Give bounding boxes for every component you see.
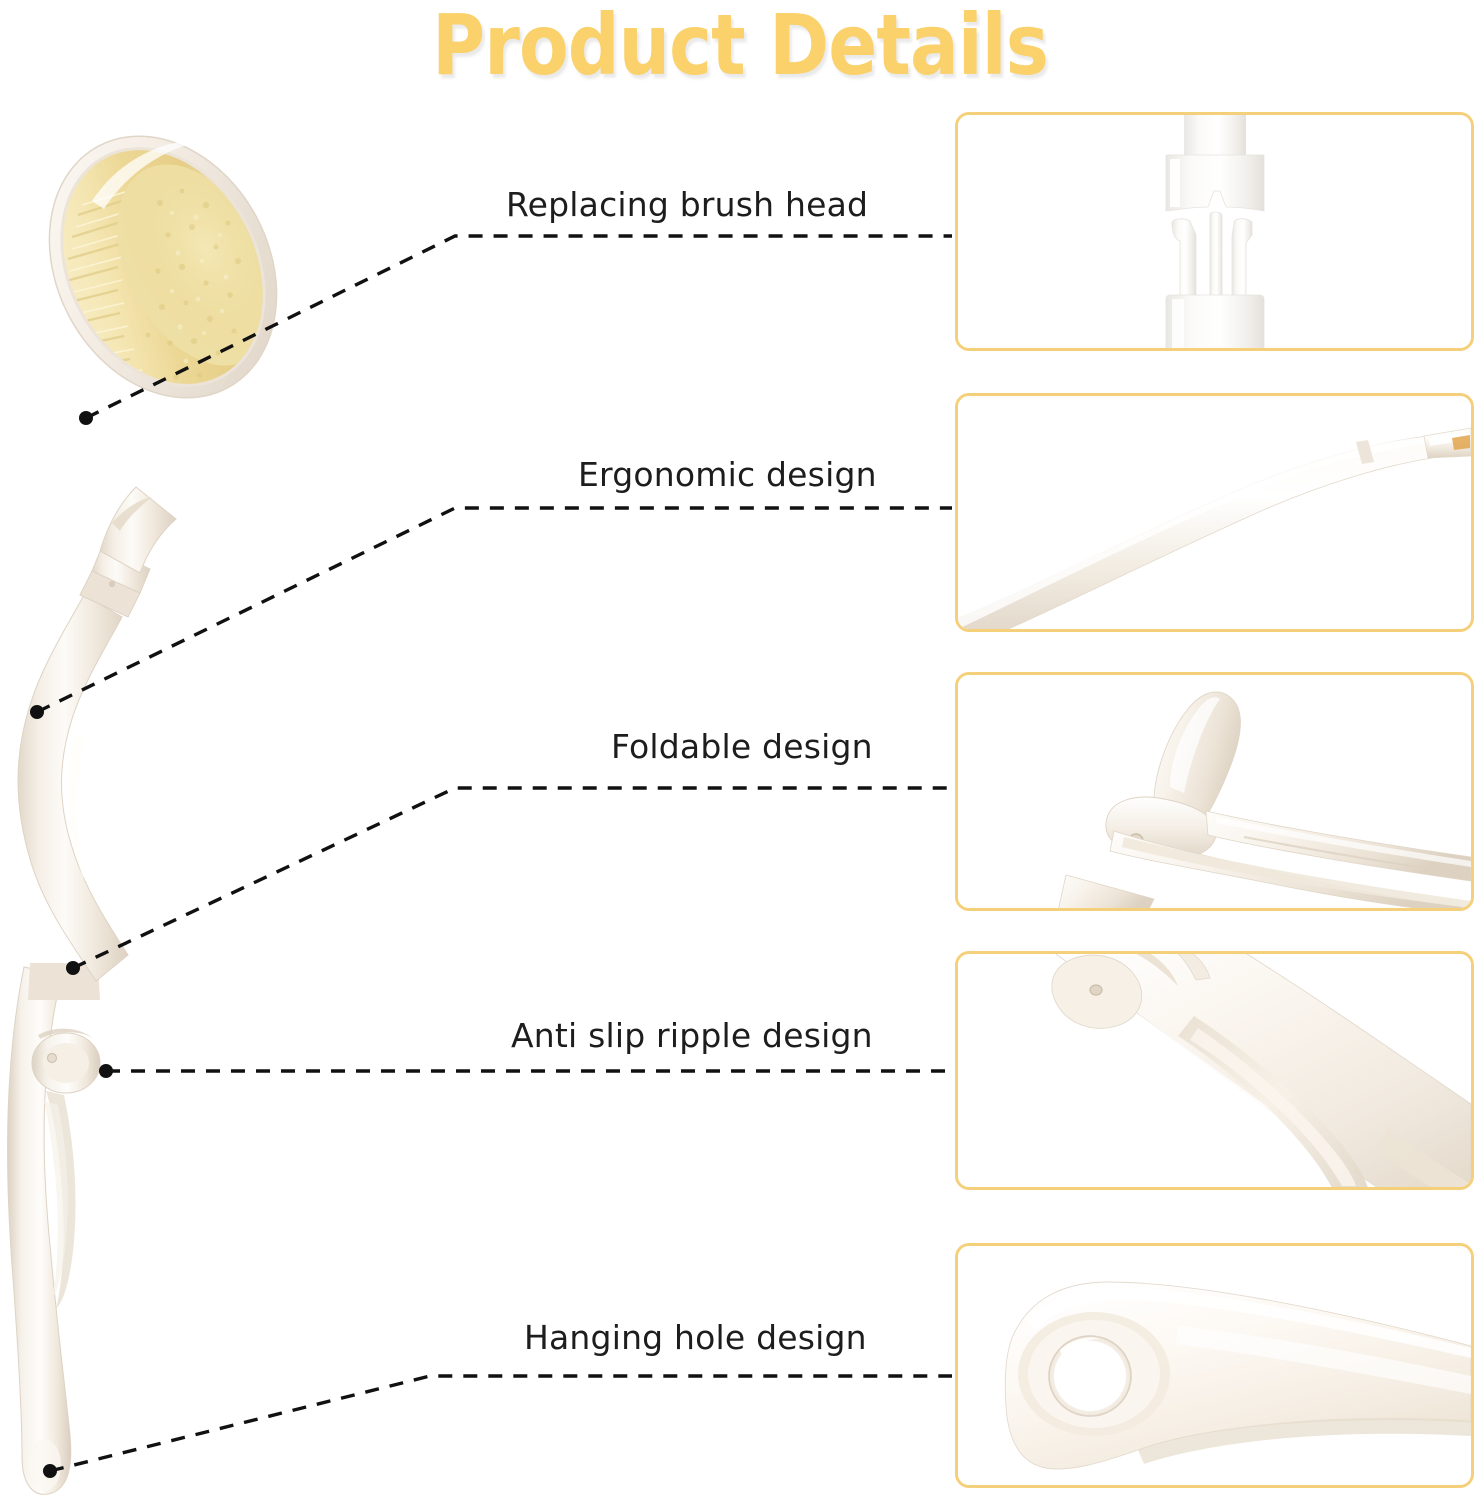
panel-image-replacing-brush-head	[958, 115, 1471, 348]
panel-image-ergonomic-design	[958, 396, 1471, 629]
leader-ergonomic-design	[37, 508, 952, 712]
panel-anti-slip-ripple-design	[955, 951, 1474, 1190]
panel-image-foldable-design	[958, 675, 1471, 908]
panel-hanging-hole-design	[955, 1243, 1474, 1488]
callout-label-hanging-hole-design: Hanging hole design	[524, 1318, 867, 1357]
leader-hanging-hole-design	[50, 1376, 952, 1471]
callout-label-ergonomic-design: Ergonomic design	[578, 455, 877, 494]
panel-image-hanging-hole-design	[958, 1246, 1471, 1485]
callout-label-replacing-brush-head: Replacing brush head	[506, 185, 868, 224]
infographic-canvas: Product Details	[0, 0, 1480, 1500]
leader-replacing-brush-head	[86, 236, 952, 418]
leader-foldable-design	[73, 788, 952, 968]
panel-foldable-design	[955, 672, 1474, 911]
callout-label-anti-slip-ripple-design: Anti slip ripple design	[511, 1016, 873, 1055]
panel-replacing-brush-head	[955, 112, 1474, 351]
panel-image-anti-slip-ripple-design	[958, 954, 1471, 1187]
callout-label-foldable-design: Foldable design	[611, 727, 873, 766]
panel-ergonomic-design	[955, 393, 1474, 632]
